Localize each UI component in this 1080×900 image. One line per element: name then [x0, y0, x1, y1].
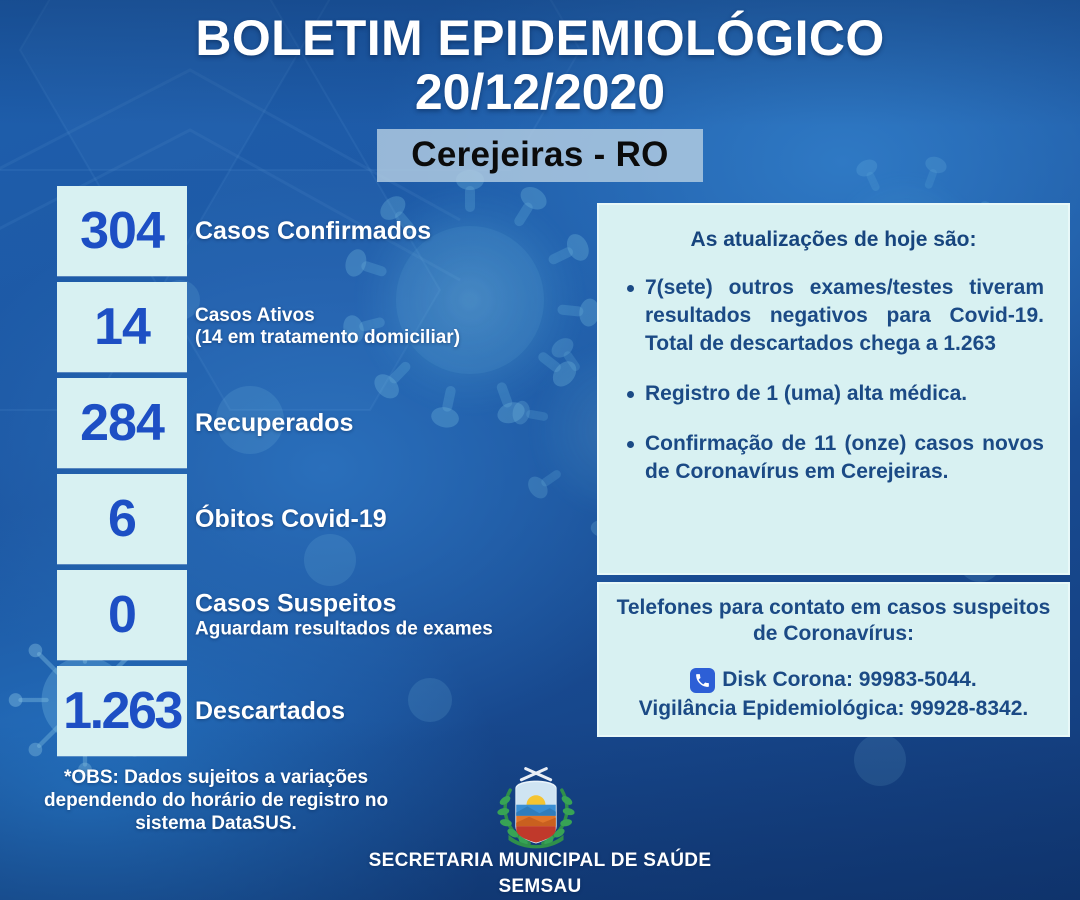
- statistics-list: 304 Casos Confirmados 14 Casos Ativos (1…: [57, 186, 187, 756]
- city-badge: Cerejeiras - RO: [377, 129, 702, 182]
- stat-sublabel: Aguardam resultados de exames: [195, 618, 595, 641]
- stat-value: 284: [80, 397, 164, 449]
- stat-value: 14: [94, 301, 150, 353]
- stat-sublabel: (14 em tratamento domiciliar): [195, 326, 595, 349]
- stat-value-box: 1.263: [57, 666, 187, 756]
- stat-row-suspected: 0 Casos Suspeitos Aguardam resultados de…: [57, 570, 187, 660]
- stat-value-box: 284: [57, 378, 187, 468]
- update-item: Confirmação de 11 (onze) casos novos de …: [645, 430, 1044, 486]
- stat-value-box: 6: [57, 474, 187, 564]
- stat-value: 6: [108, 493, 136, 545]
- stat-value: 1.263: [63, 685, 181, 737]
- contact-heading: Telefones para contato em casos suspeito…: [613, 595, 1054, 646]
- stat-row-confirmed: 304 Casos Confirmados: [57, 186, 187, 276]
- stat-value-box: 304: [57, 186, 187, 276]
- stat-label-group: Recuperados: [195, 409, 595, 438]
- stat-value-box: 0: [57, 570, 187, 660]
- stat-label: Casos Ativos: [195, 305, 595, 327]
- update-item: 7(sete) outros exames/testes tiveram res…: [645, 274, 1044, 358]
- stat-value: 0: [108, 589, 136, 641]
- updates-list: 7(sete) outros exames/testes tiveram res…: [619, 274, 1048, 486]
- contact-line-vigilancia: Vigilância Epidemiológica: 99928-8342.: [613, 695, 1054, 723]
- poster-root: BOLETIM EPIDEMIOLÓGICO 20/12/2020 Cereje…: [0, 0, 1080, 900]
- stat-row-active: 14 Casos Ativos (14 em tratamento domici…: [57, 282, 187, 372]
- stat-label: Recuperados: [195, 409, 595, 438]
- page-title: BOLETIM EPIDEMIOLÓGICO: [0, 12, 1080, 64]
- contact-line-disk-corona: Disk Corona: 99983-5044.: [613, 666, 1054, 694]
- stat-row-recovered: 284 Recuperados: [57, 378, 187, 468]
- stat-label: Descartados: [195, 697, 595, 726]
- update-item: Registro de 1 (uma) alta médica.: [645, 380, 1044, 408]
- updates-panel: As atualizações de hoje são: 7(sete) out…: [597, 203, 1070, 575]
- poster-header: BOLETIM EPIDEMIOLÓGICO 20/12/2020 Cereje…: [0, 12, 1080, 182]
- stat-label-group: Casos Confirmados: [195, 217, 595, 246]
- contact-panel: Telefones para contato em casos suspeito…: [597, 582, 1070, 737]
- department-acronym: SEMSAU: [0, 874, 1080, 900]
- stat-row-discarded: 1.263 Descartados: [57, 666, 187, 756]
- stat-value: 304: [80, 205, 164, 257]
- stat-label: Óbitos Covid-19: [195, 505, 595, 534]
- disk-corona-number: Disk Corona: 99983-5044.: [722, 666, 976, 694]
- contact-numbers: Disk Corona: 99983-5044. Vigilância Epid…: [613, 666, 1054, 723]
- department-footer: SECRETARIA MUNICIPAL DE SAÚDE SEMSAU: [0, 848, 1080, 900]
- stat-label-group: Descartados: [195, 697, 595, 726]
- updates-heading: As atualizações de hoje são:: [619, 227, 1048, 252]
- bulletin-date: 20/12/2020: [0, 66, 1080, 119]
- stat-value-box: 14: [57, 282, 187, 372]
- department-name: SECRETARIA MUNICIPAL DE SAÚDE: [0, 848, 1080, 874]
- stat-label: Casos Suspeitos: [195, 589, 595, 618]
- stat-label-group: Óbitos Covid-19: [195, 505, 595, 534]
- phone-icon: [690, 668, 715, 693]
- stat-label-group: Casos Suspeitos Aguardam resultados de e…: [195, 589, 595, 640]
- stat-label: Casos Confirmados: [195, 217, 595, 246]
- stat-label-group: Casos Ativos (14 em tratamento domicilia…: [195, 305, 595, 349]
- stat-row-deaths: 6 Óbitos Covid-19: [57, 474, 187, 564]
- municipal-coat-of-arms-emblem: [493, 766, 579, 852]
- observation-note: *OBS: Dados sujeitos a variações depende…: [16, 766, 416, 836]
